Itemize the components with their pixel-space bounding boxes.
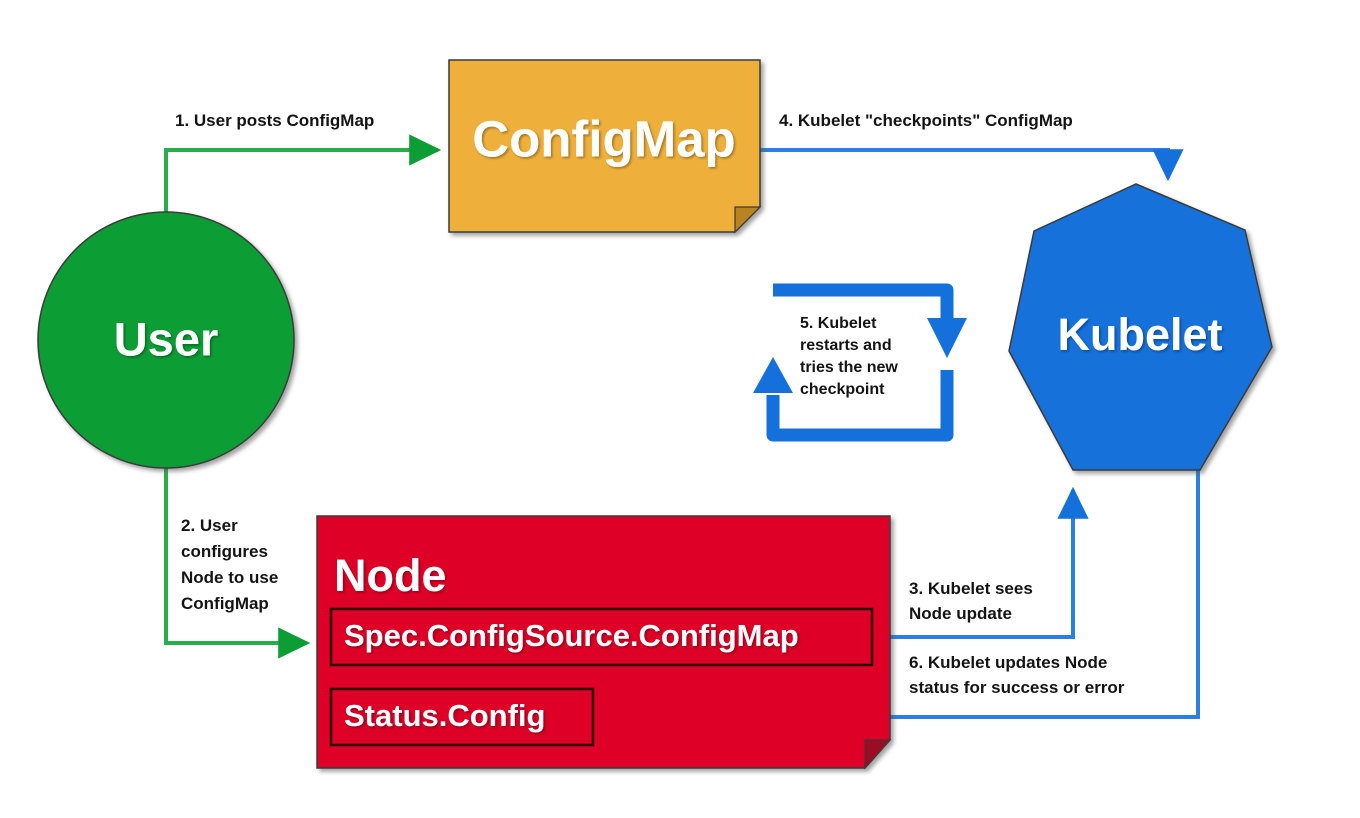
node-kubelet[interactable]: Kubelet xyxy=(1009,184,1272,470)
step-5-line-2: tries the new xyxy=(800,359,898,376)
step-5-line-1: restarts and xyxy=(800,337,892,354)
step-5-up-arrowhead-icon xyxy=(753,357,793,393)
flow-diagram: User ConfigMap Kubelet Node Spec.ConfigS… xyxy=(0,0,1360,818)
step-2-line-2: Node to use xyxy=(181,568,278,587)
diagram-canvas: User ConfigMap Kubelet Node Spec.ConfigS… xyxy=(0,0,1360,818)
node-user[interactable]: User xyxy=(38,212,294,468)
node-fold-corner-icon xyxy=(865,740,890,768)
step-5-line-0: 5. Kubelet xyxy=(800,315,877,332)
step-4-label: 4. Kubelet "checkpoints" ConfigMap xyxy=(779,111,1073,130)
configmap-label: ConfigMap xyxy=(472,110,735,167)
step-6-line-1: status for success or error xyxy=(909,678,1125,697)
step-3-label: 3. Kubelet sees Node update xyxy=(909,579,1033,623)
step-3-line-1: Node update xyxy=(909,604,1012,623)
step-6-line-0: 6. Kubelet updates Node xyxy=(909,653,1107,672)
configmap-fold-corner-icon xyxy=(735,207,760,232)
step-1-label: 1. User posts ConfigMap xyxy=(175,111,374,130)
node-title-label: Node xyxy=(334,550,447,601)
step-1-line-0: 1. User posts ConfigMap xyxy=(175,111,374,130)
step-4-arrow-path xyxy=(760,150,1168,178)
status-field-label: Status.Config xyxy=(344,698,546,733)
user-label: User xyxy=(114,312,219,365)
step-2-label: 2. User configures Node to use ConfigMap xyxy=(181,516,278,613)
node-node[interactable]: Node Spec.ConfigSource.ConfigMap Status.… xyxy=(317,516,890,768)
spec-field-label: Spec.ConfigSource.ConfigMap xyxy=(344,618,799,653)
node-configmap[interactable]: ConfigMap xyxy=(449,60,760,232)
step-2-line-1: configures xyxy=(181,542,268,561)
step-6-label: 6. Kubelet updates Node status for succe… xyxy=(909,653,1125,697)
step-5-label: 5. Kubelet restarts and tries the new ch… xyxy=(800,315,898,398)
connector-step-4 xyxy=(760,150,1168,178)
step-5-down-arrowhead-icon xyxy=(927,318,967,358)
step-4-line-0: 4. Kubelet "checkpoints" ConfigMap xyxy=(779,111,1073,130)
step-2-line-3: ConfigMap xyxy=(181,594,269,613)
step-3-line-0: 3. Kubelet sees xyxy=(909,579,1033,598)
step-2-line-0: 2. User xyxy=(181,516,238,535)
step-5-line-3: checkpoint xyxy=(800,381,885,398)
kubelet-label: Kubelet xyxy=(1057,309,1222,360)
